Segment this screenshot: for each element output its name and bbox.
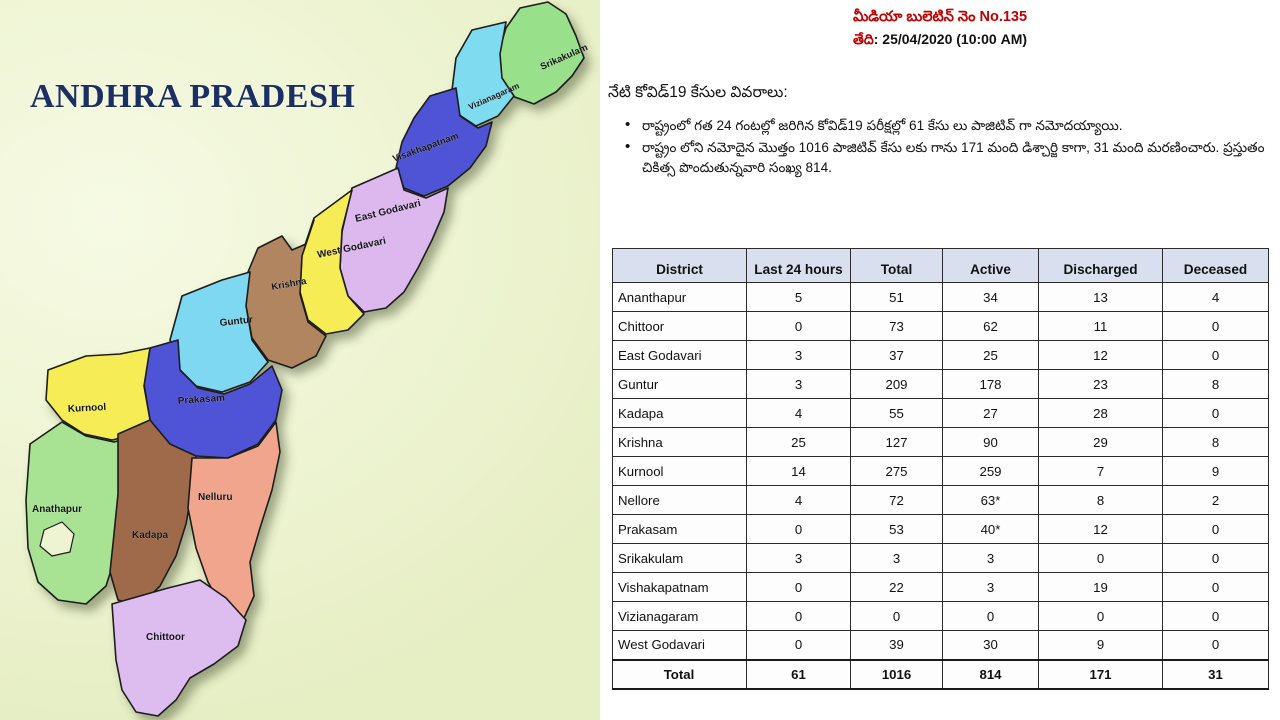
andhra-pradesh-map-panel: Srikakulam Vizianagaram Visakhapatnam Ea… [0,0,600,720]
cell-deceased: 0 [1163,312,1269,341]
table-row: Nellore47263*82 [613,486,1269,515]
summary-bullet-list: రాష్ట్రంలో గత 24 గంటల్లో జరిగిన కోవిడ్19… [618,116,1280,180]
cell-discharged: 11 [1039,312,1163,341]
cell-active: 34 [943,283,1039,312]
summary-bullet-item: రాష్ట్రంలో గత 24 గంటల్లో జరిగిన కోవిడ్19… [642,116,1280,136]
cell-active: 814 [943,660,1039,689]
cell-district: Vishakapatnam [613,573,747,602]
cell-active: 3 [943,573,1039,602]
cell-district: Kurnool [613,457,747,486]
column-header-last24: Last 24 hours [747,249,851,283]
cell-discharged: 12 [1039,515,1163,544]
cell-total: 3 [851,544,943,573]
cell-discharged: 171 [1039,660,1163,689]
cell-district: Prakasam [613,515,747,544]
table-row: Ananthapur55134134 [613,283,1269,312]
cell-last24: 0 [747,312,851,341]
cell-total: 73 [851,312,943,341]
cell-district: West Godavari [613,631,747,660]
cell-discharged: 29 [1039,428,1163,457]
table-header: District Last 24 hours Total Active Disc… [613,249,1269,283]
cell-last24: 3 [747,544,851,573]
map-label-nelluru: Nelluru [198,492,232,503]
bulletin-page: Srikakulam Vizianagaram Visakhapatnam Ea… [0,0,1280,720]
table-row: Vizianagaram00000 [613,602,1269,631]
column-header-discharged: Discharged [1039,249,1163,283]
cell-total: 55 [851,399,943,428]
cell-last24: 0 [747,631,851,660]
map-label-chittoor: Chittoor [146,632,185,643]
cell-discharged: 8 [1039,486,1163,515]
column-header-total: Total [851,249,943,283]
cell-discharged: 12 [1039,341,1163,370]
cell-active: 25 [943,341,1039,370]
bulletin-date-label: తేది [853,31,874,47]
cell-total: 72 [851,486,943,515]
cell-district: Total [613,660,747,689]
cell-last24: 25 [747,428,851,457]
table-row: Kadapa45527280 [613,399,1269,428]
cell-active: 3 [943,544,1039,573]
map-label-kadapa: Kadapa [132,530,169,541]
cell-district: Kadapa [613,399,747,428]
table-row: Kurnool1427525979 [613,457,1269,486]
cell-district: East Godavari [613,341,747,370]
cell-last24: 4 [747,399,851,428]
bulletin-header: మీడియా బులెటిన్ నెం No.135 తేది: 25/04/2… [600,8,1280,49]
cell-last24: 0 [747,602,851,631]
summary-bullet-item: రాష్ట్రం లోని నమోదైన మొత్తం 1016 పాజిటివ… [642,138,1280,178]
cell-district: Nellore [613,486,747,515]
cell-deceased: 0 [1163,573,1269,602]
table-row: East Godavari33725120 [613,341,1269,370]
bulletin-date: తేది: 25/04/2020 (10:00 AM) [600,29,1280,49]
cell-active: 0 [943,602,1039,631]
cell-active: 259 [943,457,1039,486]
bulletin-number: మీడియా బులెటిన్ నెం No.135 [600,8,1280,27]
cell-deceased: 0 [1163,341,1269,370]
cell-last24: 4 [747,486,851,515]
map-title: ANDHRA PRADESH [30,78,355,116]
cell-active: 30 [943,631,1039,660]
table-row: Vishakapatnam0223190 [613,573,1269,602]
cell-active: 63* [943,486,1039,515]
cell-last24: 0 [747,573,851,602]
map-label-anathapur: Anathapur [32,504,82,515]
cell-active: 178 [943,370,1039,399]
cell-deceased: 2 [1163,486,1269,515]
cell-deceased: 4 [1163,283,1269,312]
table-row: Krishna2512790298 [613,428,1269,457]
cell-district: Chittoor [613,312,747,341]
cell-deceased: 31 [1163,660,1269,689]
column-header-deceased: Deceased [1163,249,1269,283]
table-body: Ananthapur55134134Chittoor07362110East G… [613,283,1269,689]
cell-active: 27 [943,399,1039,428]
cell-total: 0 [851,602,943,631]
cell-total: 1016 [851,660,943,689]
cell-active: 90 [943,428,1039,457]
cell-last24: 5 [747,283,851,312]
table-row: Srikakulam33300 [613,544,1269,573]
cell-total: 39 [851,631,943,660]
cell-total: 209 [851,370,943,399]
cell-deceased: 0 [1163,602,1269,631]
map-label-kurnool: Kurnool [68,402,107,415]
table-row: Guntur3209178238 [613,370,1269,399]
cell-district: Krishna [613,428,747,457]
cell-total: 22 [851,573,943,602]
cell-total: 275 [851,457,943,486]
column-header-district: District [613,249,747,283]
cell-discharged: 0 [1039,544,1163,573]
cell-deceased: 0 [1163,544,1269,573]
cell-active: 40* [943,515,1039,544]
bulletin-panel: మీడియా బులెటిన్ నెం No.135 తేది: 25/04/2… [600,0,1280,720]
cell-discharged: 9 [1039,631,1163,660]
cell-discharged: 28 [1039,399,1163,428]
cell-last24: 3 [747,341,851,370]
cell-discharged: 23 [1039,370,1163,399]
cell-discharged: 19 [1039,573,1163,602]
cell-total: 51 [851,283,943,312]
section-heading: నేటి కోవిడ్19 కేసుల వివరాలు: [608,84,788,105]
cell-deceased: 8 [1163,370,1269,399]
bulletin-date-value: : 25/04/2020 (10:00 AM) [874,31,1027,47]
table-row: Prakasam05340*120 [613,515,1269,544]
table-row: Chittoor07362110 [613,312,1269,341]
cell-deceased: 8 [1163,428,1269,457]
cell-last24: 14 [747,457,851,486]
cell-deceased: 0 [1163,399,1269,428]
cell-discharged: 13 [1039,283,1163,312]
cell-district: Srikakulam [613,544,747,573]
cell-total: 127 [851,428,943,457]
map-region-chittoor [112,580,246,716]
district-case-table: District Last 24 hours Total Active Disc… [612,248,1269,690]
cell-district: Guntur [613,370,747,399]
district-table-container: District Last 24 hours Total Active Disc… [612,248,1268,690]
cell-deceased: 0 [1163,631,1269,660]
cell-last24: 3 [747,370,851,399]
cell-deceased: 0 [1163,515,1269,544]
table-total-row: Total61101681417131 [613,660,1269,689]
cell-total: 37 [851,341,943,370]
table-header-row: District Last 24 hours Total Active Disc… [613,249,1269,283]
cell-district: Vizianagaram [613,602,747,631]
cell-last24: 61 [747,660,851,689]
table-row: West Godavari0393090 [613,631,1269,660]
cell-discharged: 0 [1039,602,1163,631]
cell-total: 53 [851,515,943,544]
cell-active: 62 [943,312,1039,341]
cell-district: Ananthapur [613,283,747,312]
cell-last24: 0 [747,515,851,544]
cell-deceased: 9 [1163,457,1269,486]
cell-discharged: 7 [1039,457,1163,486]
column-header-active: Active [943,249,1039,283]
